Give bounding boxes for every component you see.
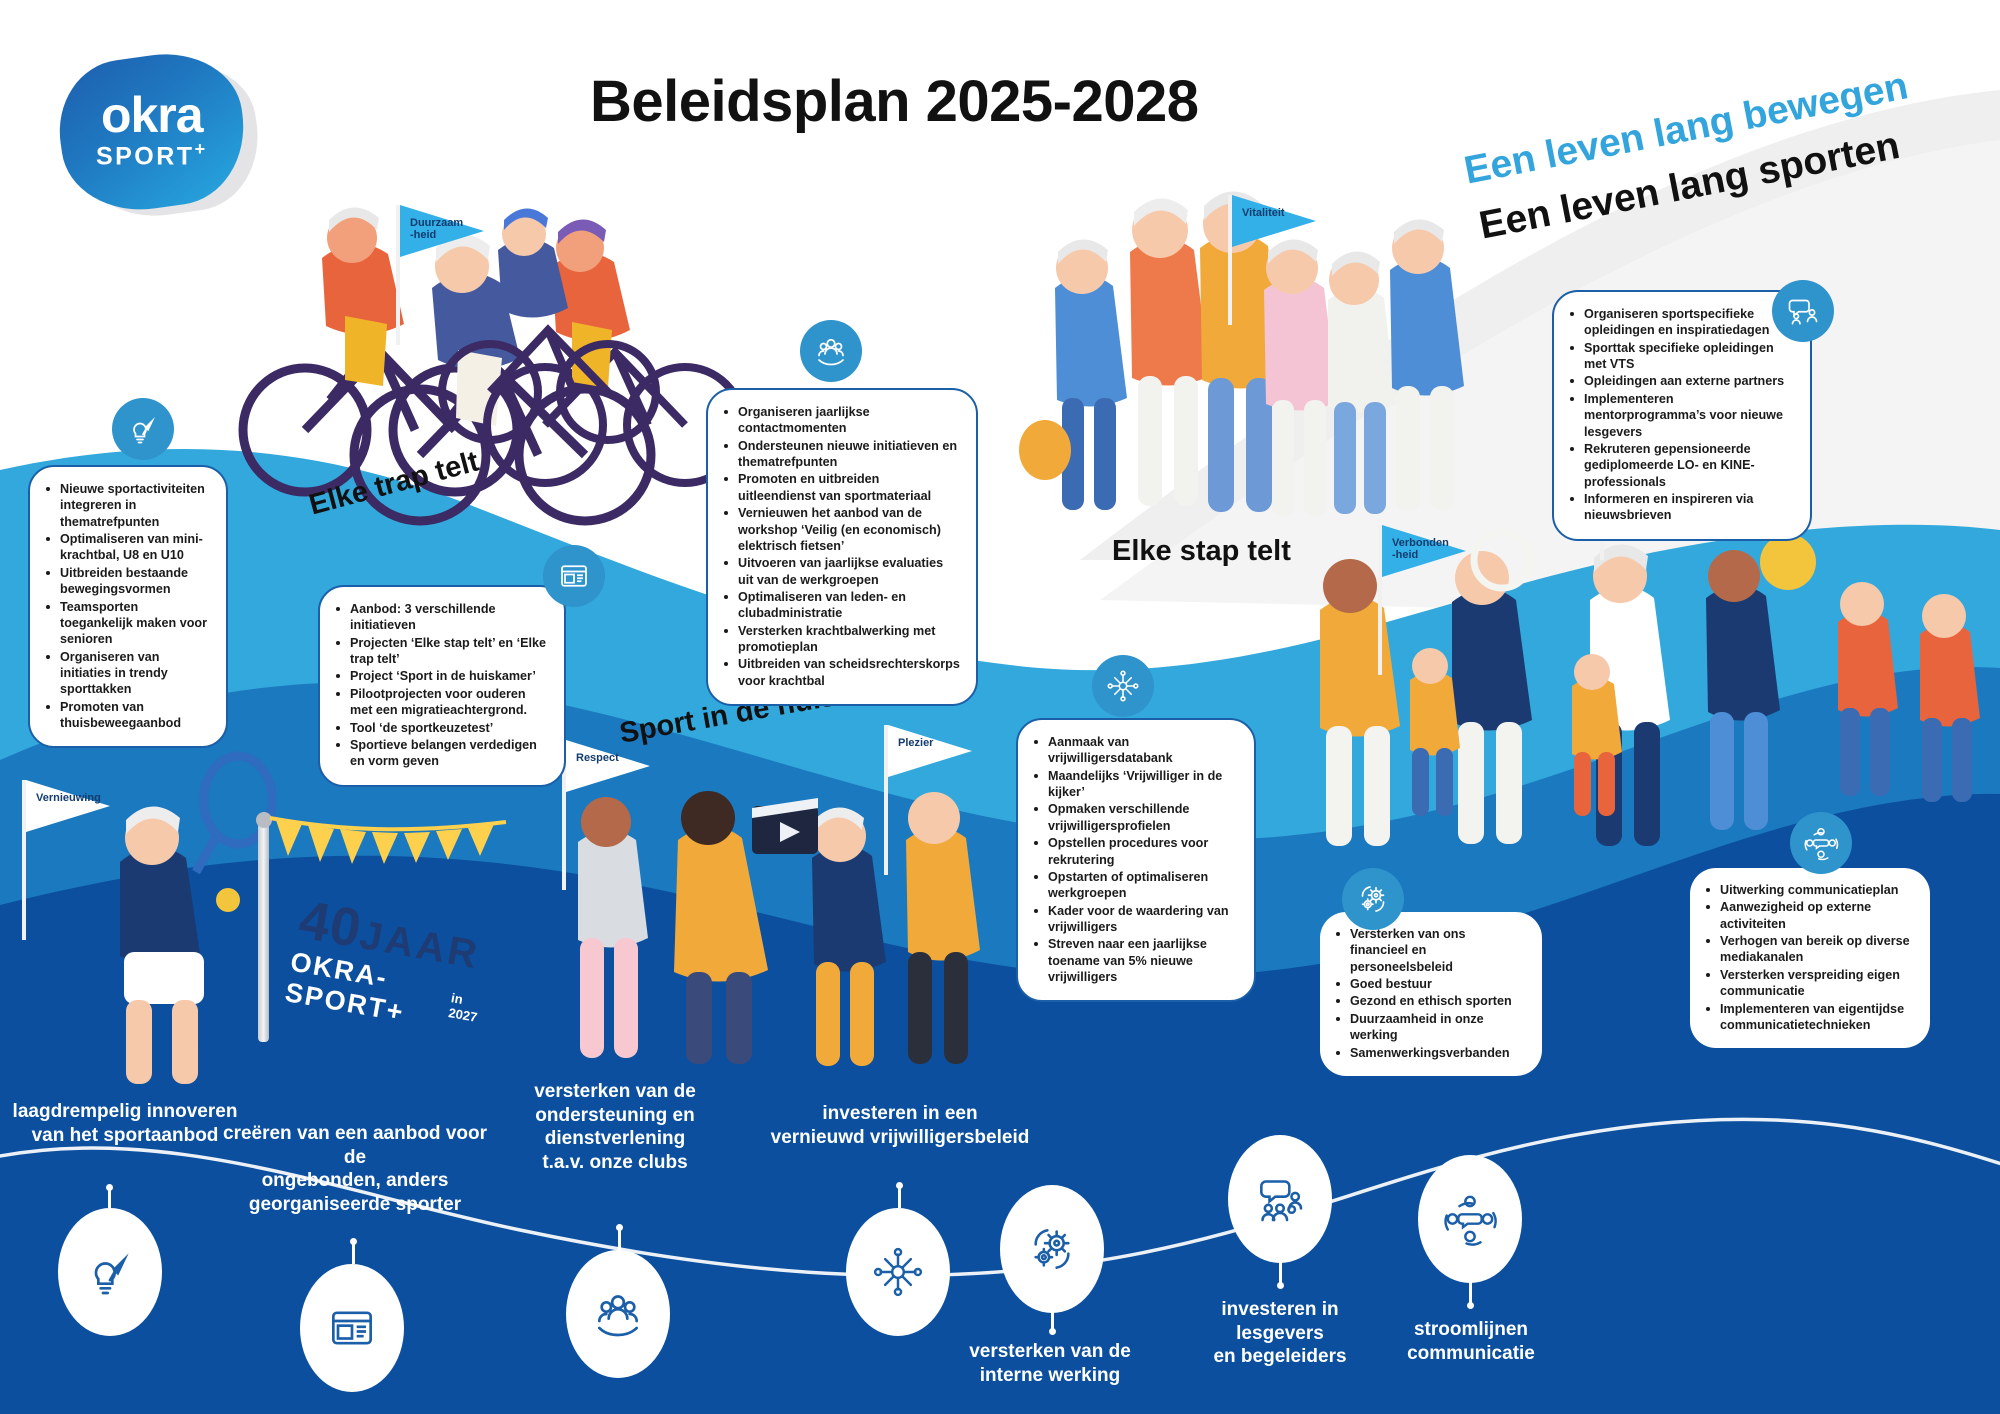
card-aanbod-ongebonden: Aanbod: 3 verschillende initiatieven Pro… [318,585,566,787]
journey-label-interne: versterken van de interne werking [925,1340,1175,1387]
journey-stem-dot [1049,1328,1056,1335]
list-item: Ondersteunen nieuwe initiatieven en them… [722,438,960,471]
anniversary-year: in 2027 [447,990,481,1025]
journey-label-communicatie: stroomlijnen communicatie [1360,1318,1582,1365]
flag-cloth [888,725,972,777]
web-layout-icon [543,545,605,607]
poster-canvas: okra SPORT+ Beleidsplan 2025-2028 Een le… [0,0,2000,1414]
card-communicatie: Uitwerking communicatieplan Aanwezigheid… [1690,868,1930,1048]
journey-strip: laagdrempelig innoveren van het sportaan… [0,1040,2000,1414]
journey-node-aanbod[interactable] [300,1264,404,1392]
logo-sub-text: SPORT [96,143,195,171]
journey-node-communicatie[interactable] [1418,1155,1522,1283]
list-item: Versterken van ons financieel en persone… [1334,926,1526,975]
okra-sport-logo[interactable]: okra SPORT+ [52,46,272,226]
journey-stem-dot [1467,1302,1474,1309]
list-item: Optimaliseren van mini-krachtbal, U8 en … [44,531,210,564]
web-layout-icon [324,1300,380,1356]
card-sportaanbod: Nieuwe sportactiviteiten integreren in t… [28,465,228,748]
card-ondersteuning-clubs: Organiseren jaarlijkse contactmomenten O… [706,388,978,706]
list-item: Aanwezigheid op externe activiteiten [1704,899,1914,932]
volunteer-network-icon [1092,655,1154,717]
list-item: Opleidingen aan externe partners [1568,373,1794,389]
journey-stem [618,1228,621,1250]
list-item: Gezond en ethisch sporten [1334,993,1526,1009]
list-item: Vernieuwen het aanbod van de workshop ‘V… [722,505,960,554]
list-item: Implementeren mentorprogramma’s voor nie… [1568,391,1794,440]
journey-label-aanbod: creëren van een aanbod voor de ongebonde… [210,1122,500,1216]
list-item: Projecten ‘Elke stap telt’ en ‘Elke trap… [334,635,548,668]
flag-cloth [26,780,110,832]
hand-people-icon [590,1286,646,1342]
lightbulb-rocket-icon [82,1244,138,1300]
logo-plus: + [195,139,208,159]
speech-people-icon [1772,280,1834,342]
volunteer-network-icon [870,1244,926,1300]
list-item: Versterken krachtbalwerking met promotie… [722,623,960,656]
card-list: Nieuwe sportactiviteiten integreren in t… [44,481,210,731]
speech-people-icon [1252,1171,1308,1227]
list-item: Rekruteren gepensioneerde gediplomeerde … [1568,441,1794,490]
journey-label-vrijwilligers: investeren in een vernieuwd vrijwilliger… [735,1102,1065,1149]
journey-stem [1279,1262,1282,1284]
journey-label-ondersteuning: versterken van de ondersteuning en diens… [490,1080,740,1174]
list-item: Informeren en inspireren via nieuwsbriev… [1568,491,1794,524]
list-item: Sporttak specifieke opleidingen met VTS [1568,340,1794,373]
gears-icon [1024,1221,1080,1277]
journey-stem [1469,1282,1472,1304]
journey-stem-dot [106,1184,113,1191]
bunting-icon [266,814,531,874]
journey-stem-dot [1277,1282,1284,1289]
list-item: Project ‘Sport in de huiskamer’ [334,668,548,684]
card-vrijwilligersbeleid: Aanmaak van vrijwilligersdatabank Maande… [1016,718,1256,1002]
flag-label: Vitaliteit [1242,208,1285,220]
hand-people-icon [800,320,862,382]
journey-node-interne[interactable] [1000,1185,1104,1313]
list-item: Uitbreiden bestaande bewegingsvormen [44,565,210,598]
journey-node-innoveren[interactable] [58,1208,162,1336]
journey-stem [108,1188,111,1208]
communication-network-icon [1790,812,1852,874]
flag-label: Plezier [898,738,933,750]
list-item: Organiseren sportspecifieke opleidingen … [1568,306,1794,339]
list-item: Organiseren jaarlijkse contactmomenten [722,404,960,437]
list-item: Teamsporten toegankelijk maken voor seni… [44,599,210,648]
card-lesgevers: Organiseren sportspecifieke opleidingen … [1552,290,1812,541]
list-item: Opstarten of optimaliseren werkgroepen [1032,869,1238,902]
flag-label: Verbonden -heid [1392,538,1449,561]
journey-stem [898,1186,901,1208]
lightbulb-rocket-icon [112,398,174,460]
clapperboard-icon [752,798,818,854]
list-item: Duurzaamheid in onze werking [1334,1011,1526,1044]
tennis-player [120,756,272,1084]
flag-cloth [566,740,650,792]
list-item: Nieuwe sportactiviteiten integreren in t… [44,481,210,530]
journey-stem [352,1242,355,1264]
list-item: Promoten en uitbreiden uitleendienst van… [722,471,960,504]
journey-node-vrijwilligers[interactable] [846,1208,950,1336]
list-item: Opstellen procedures voor rekrutering [1032,835,1238,868]
list-item: Sportieve belangen verdedigen en vorm ge… [334,737,548,770]
list-item: Aanbod: 3 verschillende initiatieven [334,601,548,634]
list-item: Pilootprojecten voor ouderen met een mig… [334,686,548,719]
gears-icon [1342,868,1404,930]
card-list: Organiseren jaarlijkse contactmomenten O… [722,404,960,689]
list-item: Versterken verspreiding eigen communicat… [1704,967,1914,1000]
page-title: Beleidsplan 2025-2028 [590,68,1199,135]
list-item: Goed bestuur [1334,976,1526,992]
card-list: Organiseren sportspecifieke opleidingen … [1568,306,1794,524]
list-item: Uitwerking communicatieplan [1704,882,1914,898]
card-list: Aanbod: 3 verschillende initiatieven Pro… [334,601,548,770]
card-list: Aanmaak van vrijwilligersdatabank Maande… [1032,734,1238,985]
list-item: Uitbreiden van scheidsrechterskorps voor… [722,656,960,689]
cyclists-group [243,207,743,521]
label-elke-stap-telt: Elke stap telt [1112,535,1291,568]
list-item: Opmaken verschillende vrijwilligersprofi… [1032,801,1238,834]
journey-node-ondersteuning[interactable] [566,1250,670,1378]
card-list: Uitwerking communicatieplan Aanwezigheid… [1704,882,1914,1033]
flag-label: Vernieuwing [36,793,101,805]
journey-node-lesgevers[interactable] [1228,1135,1332,1263]
list-item: Aanmaak van vrijwilligersdatabank [1032,734,1238,767]
list-item: Maandelijks ‘Vrijwilliger in de kijker’ [1032,768,1238,801]
journey-stem-dot [350,1238,357,1245]
active-sports-group [1320,532,1980,846]
list-item: Implementeren van eigentijdse communicat… [1704,1001,1914,1034]
list-item: Optimaliseren van leden- en clubadminist… [722,589,960,622]
list-item: Verhogen van bereik op diverse mediakana… [1704,933,1914,966]
journey-stem-dot [616,1224,623,1231]
list-item: Organiseren van initiaties in trendy spo… [44,649,210,698]
journey-stem-dot [896,1182,903,1189]
communication-network-icon [1442,1191,1498,1247]
list-item: Tool ‘de sportkeuzetest’ [334,720,548,736]
flag-cloth [1232,195,1316,247]
flag-label: Duurzaam -heid [410,218,463,241]
list-item: Streven naar een jaarlijkse toename van … [1032,936,1238,985]
flag-label: Respect [576,753,619,765]
list-item: Uitvoeren van jaarlijkse evaluaties uit … [722,555,960,588]
logo-name: okra [96,92,208,138]
list-item: Promoten van thuisbeweegaanbod [44,699,210,732]
list-item: Kader voor de waardering van vrijwillige… [1032,903,1238,936]
logo-sub: SPORT+ [96,139,208,171]
